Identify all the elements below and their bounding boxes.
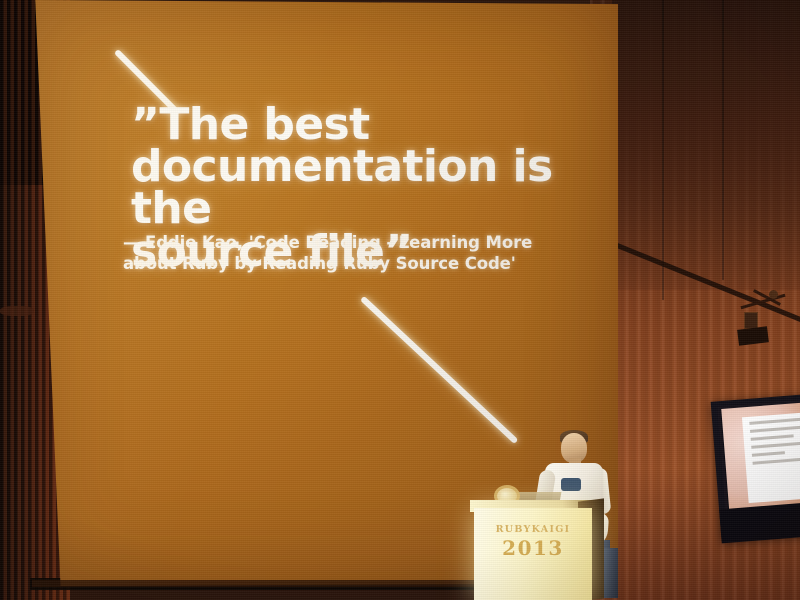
speaker-trousers-second-leg	[604, 548, 618, 598]
wall-panel-seam	[662, 0, 664, 300]
podium-brand-label: RUBYKAIGI	[474, 524, 592, 535]
monitor-base	[719, 502, 800, 543]
monitor-text-row	[751, 441, 800, 449]
monitor-text-row	[749, 418, 800, 425]
monitor-text-row	[751, 434, 794, 440]
conference-photo: ”The best documentation is the source fi…	[0, 0, 800, 600]
slide-attribution-text: — Eddie Kao, 'Code Reading - Learning Mo…	[123, 232, 553, 275]
monitor-text-row	[752, 451, 785, 457]
monitor-text-row	[750, 424, 800, 433]
wall-rail	[0, 306, 34, 316]
slide-bottom-diagonal-rule	[360, 296, 518, 444]
podium-year-label: 2013	[474, 536, 592, 560]
auditorium-wall-right-shadow	[612, 0, 800, 290]
stage-light-knob-icon	[769, 290, 778, 299]
wall-panel-seam	[722, 0, 724, 280]
confidence-monitor	[711, 395, 800, 542]
monitor-text-row	[752, 457, 800, 464]
stage-light-housing-icon	[744, 312, 758, 329]
monitor-document-content	[742, 411, 800, 503]
speaker-shirt-logo	[561, 478, 581, 491]
